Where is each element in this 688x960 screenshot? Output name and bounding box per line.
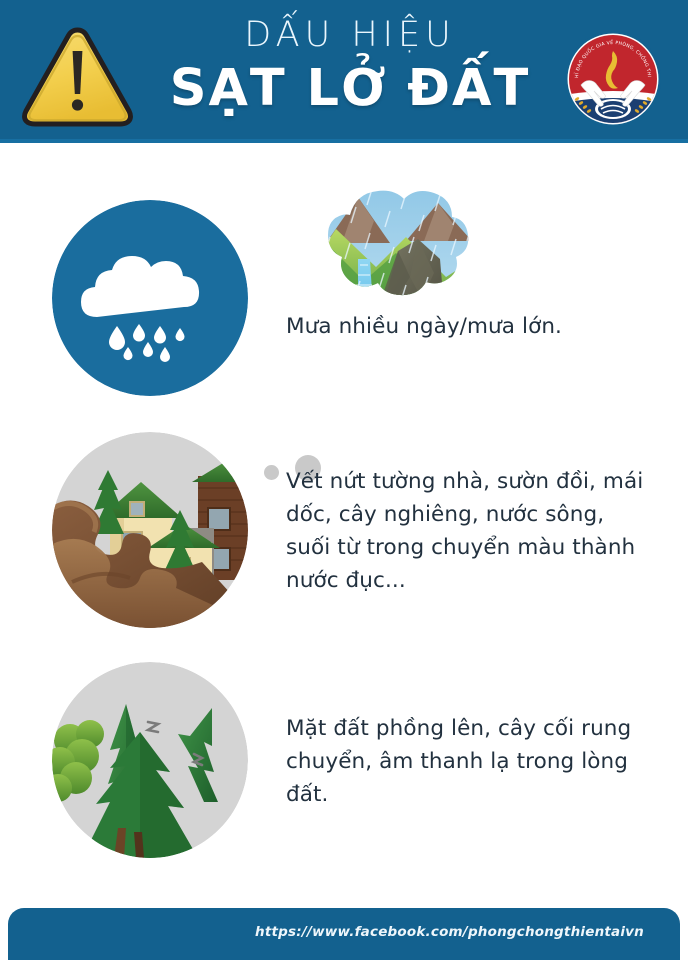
facebook-page-url[interactable]: https://www.facebook.com/phongchongthien…	[255, 924, 644, 940]
list-item-text: Vết nứt tường nhà, sườn đồi, mái dốc, câ…	[286, 465, 646, 597]
list-item: Vết nứt tường nhà, sườn đồi, mái dốc, câ…	[0, 387, 688, 619]
header-band: DẤU HIỆU SẠT LỞ ĐẤT	[0, 0, 688, 143]
rain-cloud-icon	[52, 200, 248, 396]
list-item-text: Mưa nhiều ngày/mưa lớn.	[286, 310, 646, 343]
header-title-block: DẤU HIỆU SẠT LỞ ĐẤT	[150, 12, 550, 132]
page-title-line1: DẤU HIỆU	[150, 12, 550, 58]
poster-root: DẤU HIỆU SẠT LỞ ĐẤT	[0, 0, 688, 960]
national-steering-committee-logo: BAN CHỈ ĐẠO QUỐC GIA VỀ PHÒNG, CHỐNG THI…	[563, 29, 663, 129]
landslide-houses-illustration	[52, 432, 248, 628]
footer-bar: https://www.facebook.com/phongchongthien…	[8, 908, 680, 960]
page-title-line2: SẠT LỞ ĐẤT	[150, 58, 550, 120]
list-item: Mặt đất phồng lên, cây cối rung chuyển, …	[0, 617, 688, 849]
content-rows: Mưa nhiều ngày/mưa lớn.	[0, 143, 688, 903]
warning-triangle-exclamation-icon	[20, 24, 135, 128]
shaking-pine-trees-illustration	[52, 662, 248, 858]
list-item-text: Mặt đất phồng lên, cây cối rung chuyển, …	[286, 712, 646, 811]
list-item: Mưa nhiều ngày/mưa lớn.	[0, 155, 688, 387]
